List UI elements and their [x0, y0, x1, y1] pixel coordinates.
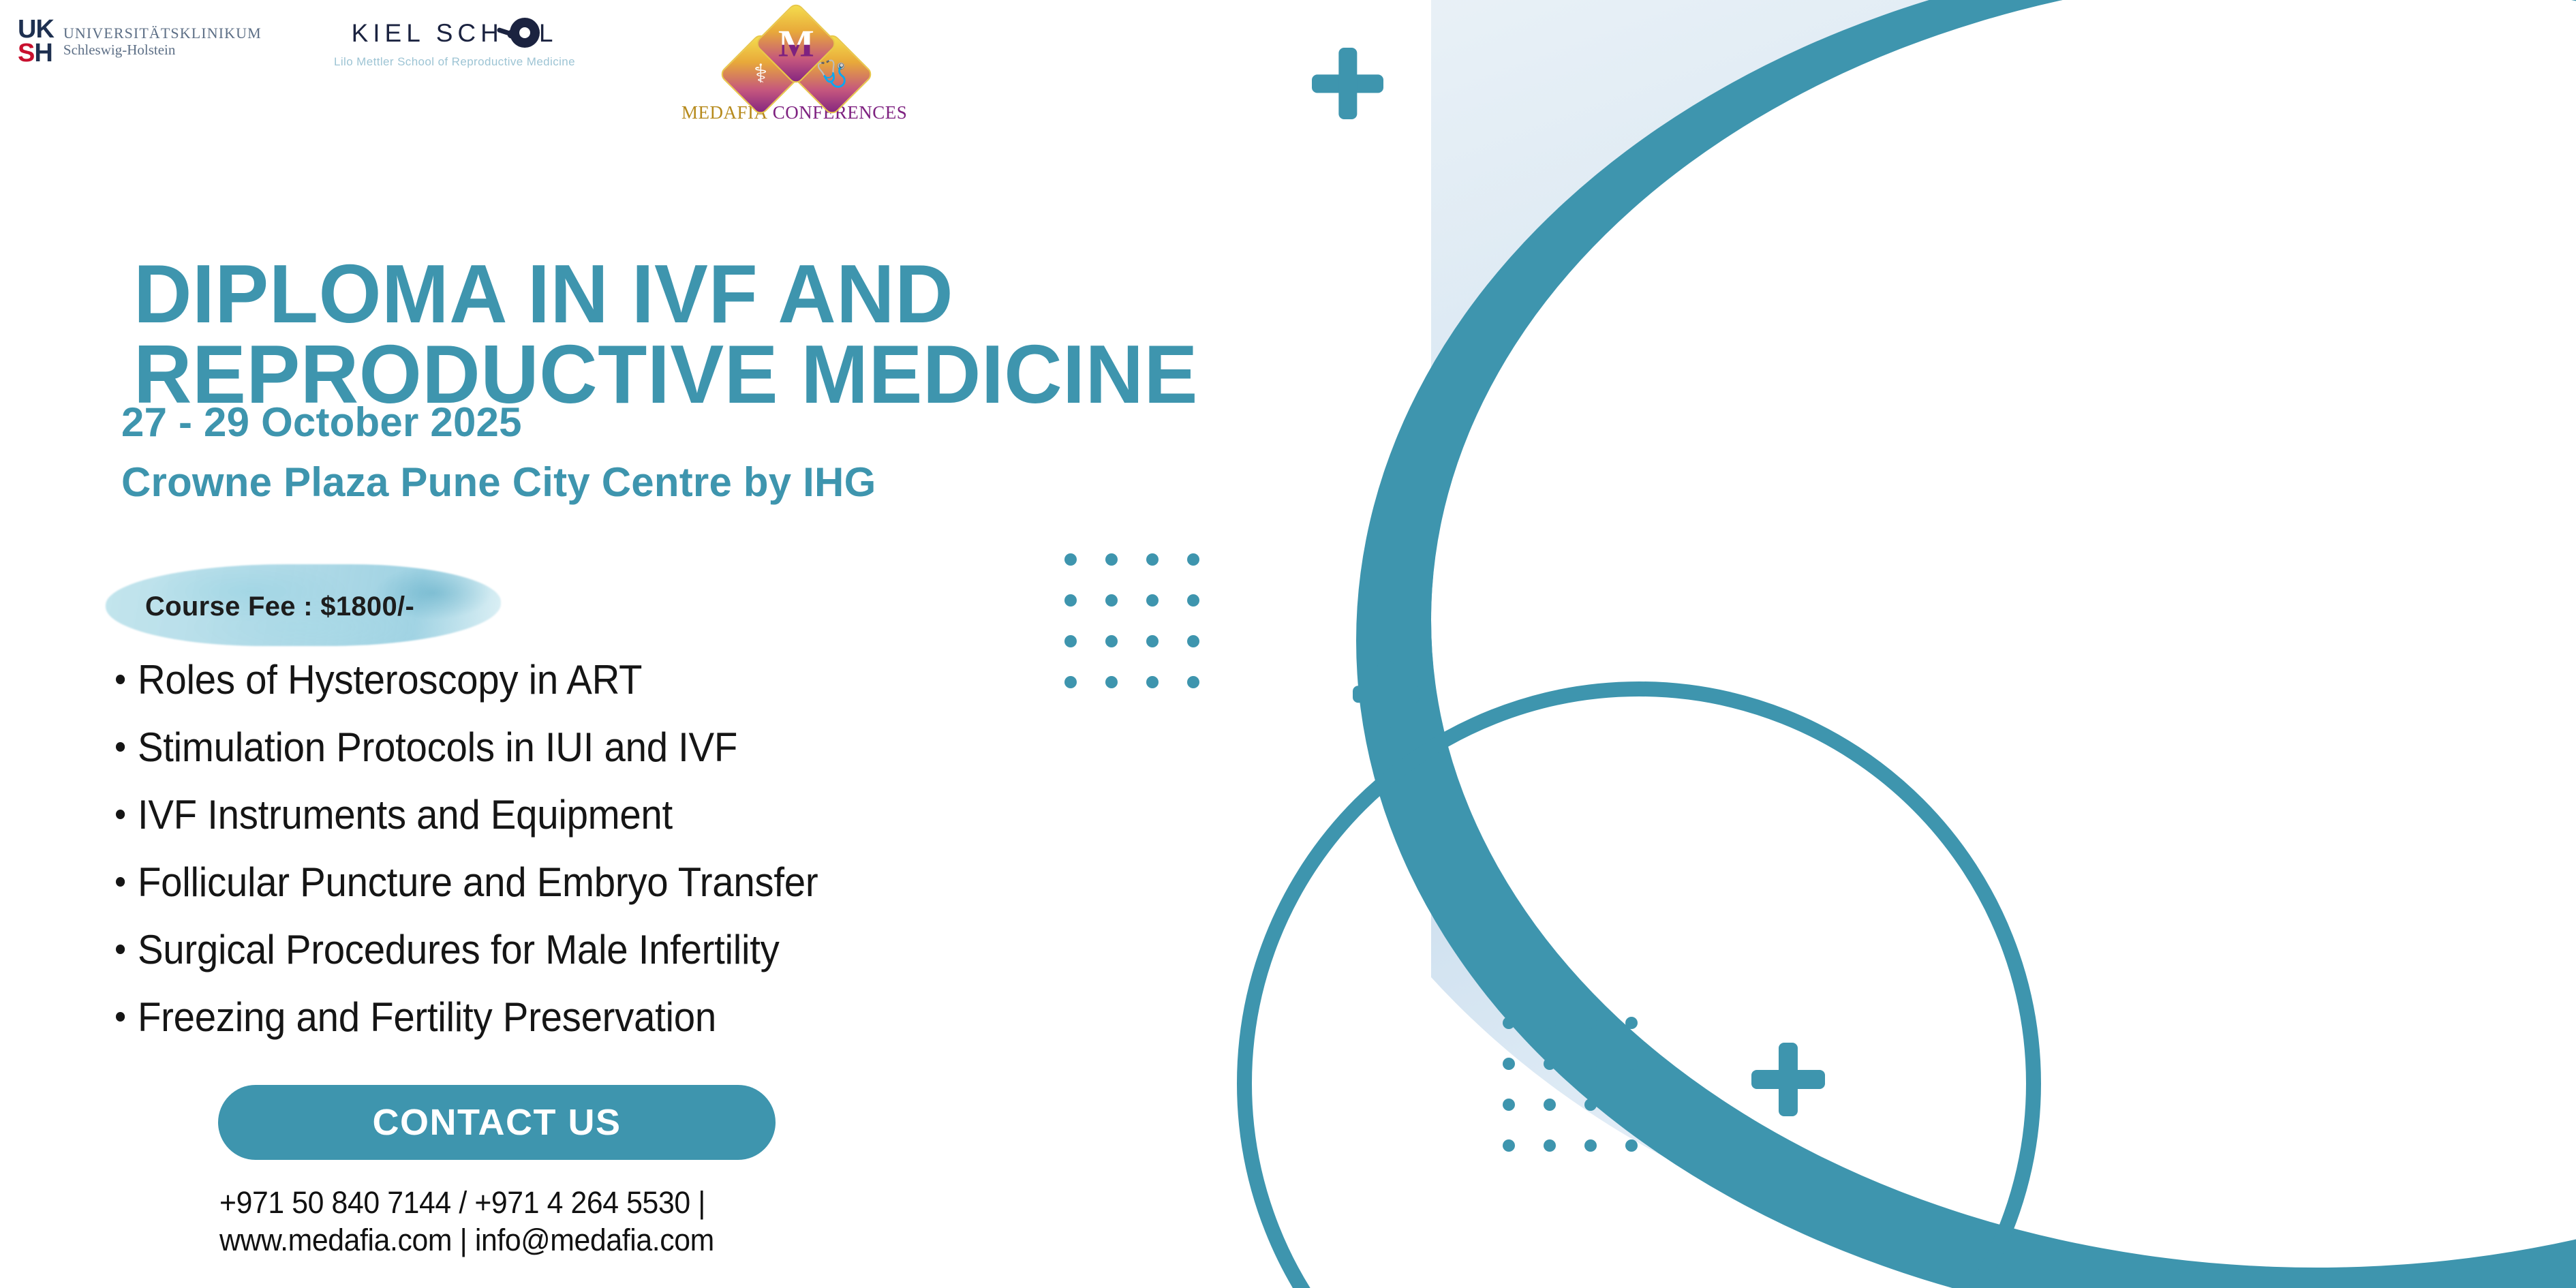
list-item: IVF Instruments and Equipment: [116, 795, 1205, 835]
uksh-wordmark-line1: UNIVERSITÄTSKLINIKUM: [63, 25, 262, 42]
uksh-monogram-line1: UK: [18, 18, 54, 42]
medafia-m-glyph: M: [778, 25, 814, 63]
kiel-school-logo: KIEL SCH L Lilo Mettler School of Reprod…: [334, 19, 575, 69]
contact-phone-line[interactable]: +971 50 840 7144 / +971 4 264 5530 |: [219, 1184, 714, 1222]
list-item: Follicular Puncture and Embryo Transfer: [116, 862, 1205, 903]
medafia-diamond-mark: ⚕ 🩺 M: [709, 12, 880, 101]
contact-web-email-line[interactable]: www.medafia.com | info@medafia.com: [219, 1222, 714, 1259]
medafia-wordmark: MEDAFIA CONFERENCES: [681, 102, 907, 123]
topic-label: IVF Instruments and Equipment: [138, 795, 673, 835]
contact-details: +971 50 840 7144 / +971 4 264 5530 | www…: [219, 1184, 714, 1259]
bullet-dot-icon: [116, 1012, 125, 1022]
event-banner: UK SH UNIVERSITÄTSKLINIKUM Schleswig-Hol…: [0, 0, 2576, 1288]
dot-grid-icon: [1503, 1017, 1644, 1159]
topic-label: Surgical Procedures for Male Infertility: [138, 930, 780, 970]
list-item: Freezing and Fertility Preservation: [116, 997, 1205, 1038]
uksh-wordmark: UNIVERSITÄTSKLINIKUM Schleswig-Holstein: [63, 25, 262, 58]
page-title: DIPLOMA IN IVF AND REPRODUCTIVE MEDICINE: [134, 254, 1323, 415]
uksh-monogram-s: S: [18, 39, 34, 67]
bullet-dot-icon: [116, 742, 125, 752]
topic-label: Roles of Hysteroscopy in ART: [138, 660, 642, 701]
kiel-wordmark: KIEL SCH L: [352, 19, 558, 48]
main-content: DIPLOMA IN IVF AND REPRODUCTIVE MEDICINE…: [0, 0, 1431, 1288]
uksh-logo: UK SH UNIVERSITÄTSKLINIKUM Schleswig-Hol…: [18, 18, 262, 65]
contact-us-button[interactable]: CONTACT US: [218, 1085, 776, 1160]
oocyte-sperm-icon: [506, 20, 538, 47]
list-item: Stimulation Protocols in IUI and IVF: [116, 727, 1205, 768]
bullet-dot-icon: [116, 810, 125, 819]
bullet-dot-icon: [116, 945, 125, 954]
partner-logos-row: UK SH UNIVERSITÄTSKLINIKUM Schleswig-Hol…: [0, 10, 954, 139]
stethoscope-glyph: 🩺: [816, 61, 848, 87]
uksh-monogram: UK SH: [18, 18, 54, 65]
kiel-wordmark-before: KIEL SCH: [352, 19, 504, 48]
bullet-dot-icon: [116, 675, 125, 684]
topic-label: Stimulation Protocols in IUI and IVF: [138, 727, 737, 768]
uksh-wordmark-line2: Schleswig-Holstein: [63, 42, 262, 59]
uksh-monogram-h: H: [34, 39, 52, 67]
caduceus-glyph: ⚕: [753, 61, 767, 87]
bullet-dot-icon: [116, 877, 125, 887]
kiel-tagline: Lilo Mettler School of Reproductive Medi…: [334, 55, 575, 69]
event-venue: Crowne Plaza Pune City Centre by IHG: [121, 459, 876, 506]
topic-label: Freezing and Fertility Preservation: [138, 997, 716, 1038]
medafia-conferences-logo: ⚕ 🩺 M MEDAFIA CONFERENCES: [681, 12, 907, 123]
event-dates: 27 - 29 October 2025: [121, 399, 522, 446]
topics-list: Roles of Hysteroscopy in ART Stimulation…: [116, 660, 1274, 1064]
topic-label: Follicular Puncture and Embryo Transfer: [138, 862, 818, 903]
kiel-wordmark-after: L: [539, 19, 558, 48]
list-item: Surgical Procedures for Male Infertility: [116, 930, 1205, 970]
course-fee-badge: Course Fee : $1800/-: [106, 564, 501, 646]
plus-icon: [1751, 1043, 1825, 1116]
page-title-line1: DIPLOMA IN IVF AND: [134, 254, 1323, 334]
course-fee-label: Course Fee : $1800/-: [145, 592, 414, 622]
list-item: Roles of Hysteroscopy in ART: [116, 660, 1205, 701]
